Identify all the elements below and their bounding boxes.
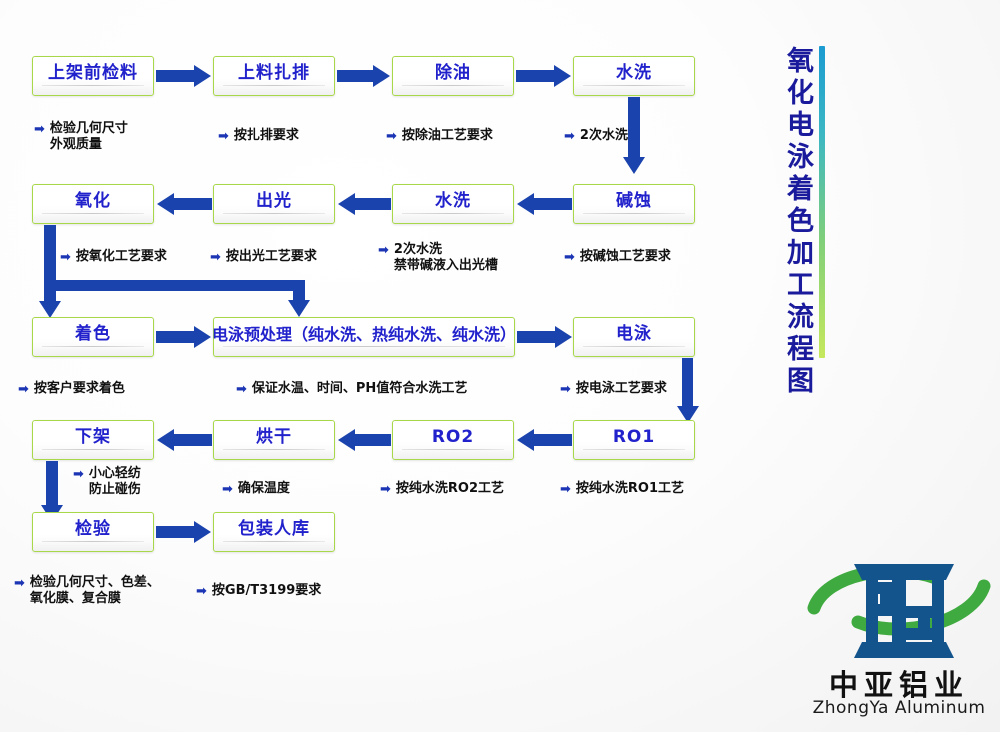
- node-underline: [223, 346, 505, 347]
- node-zhuose: 着色: [32, 317, 154, 357]
- connector-n8-branch-vertical: [44, 225, 56, 303]
- arrow-bullet-icon: ➡: [236, 382, 247, 398]
- node-underline: [223, 213, 325, 214]
- node-underline: [42, 85, 144, 86]
- page-title: 氧化电泳着色加工流程图: [784, 46, 811, 398]
- arrow-bullet-icon: ➡: [34, 122, 45, 138]
- node-label: 上架前检料: [48, 65, 138, 87]
- arrowhead-n4-n5: [623, 157, 645, 174]
- note-t9: ➡ 按客户要求着色: [18, 381, 125, 397]
- node-underline: [583, 213, 685, 214]
- arrowhead-n16-n17: [194, 521, 211, 543]
- node-label: 电泳: [616, 326, 652, 348]
- connector-n12-n13: [533, 434, 572, 446]
- arrow-bullet-icon: ➡: [560, 382, 571, 398]
- note-t13: ➡ 确保温度: [222, 481, 290, 497]
- note-text: 按GB/T3199要求: [212, 583, 321, 599]
- connector-branch-horizontal: [56, 280, 304, 291]
- arrowhead-n10-n11: [555, 326, 572, 348]
- node-shangjiaqianjianliao: 上架前检料: [32, 56, 154, 96]
- arrowhead-n7-n8: [157, 193, 174, 215]
- note-t8: ➡ 按碱蚀工艺要求: [564, 249, 671, 265]
- arrowhead-n2-n3: [373, 65, 390, 87]
- node-label: 除油: [435, 65, 471, 87]
- note-t12: ➡ 小心轻纺防止碰伤: [73, 466, 141, 499]
- title-accent-bar: [819, 46, 825, 358]
- node-honggan: 烘干: [213, 420, 335, 460]
- node-underline: [223, 85, 325, 86]
- node-underline: [583, 449, 685, 450]
- arrowhead-n8-n9: [39, 301, 61, 318]
- note-text: 按碱蚀工艺要求: [580, 249, 671, 265]
- node-chuyou: 除油: [392, 56, 514, 96]
- node-label: RO2: [432, 429, 474, 451]
- arrow-bullet-icon: ➡: [222, 482, 233, 498]
- arrow-bullet-icon: ➡: [564, 129, 575, 145]
- note-text: 小心轻纺防止碰伤: [89, 466, 141, 499]
- node-label: 上料扎排: [238, 65, 310, 87]
- node-label: 水洗: [435, 193, 471, 215]
- node-dianyong: 电泳: [573, 317, 695, 357]
- node-label: 着色: [75, 326, 111, 348]
- note-text: 保证水温、时间、PH值符合水洗工艺: [252, 381, 467, 397]
- chart-title: 氧化电泳着色加工流程图: [784, 46, 825, 398]
- arrowhead-branch-n10: [288, 300, 310, 317]
- note-t16: ➡ 检验几何尺寸、色差、氧化膜、复合膜: [14, 575, 160, 608]
- connector-n2-n3: [337, 70, 374, 82]
- node-underline: [42, 213, 144, 214]
- arrow-bullet-icon: ➡: [218, 129, 229, 145]
- arrowhead-n12-n13: [517, 429, 534, 451]
- connector-n11-n12: [682, 358, 693, 408]
- connector-n6-n7: [354, 198, 391, 210]
- note-text: 按纯水洗RO2工艺: [396, 481, 504, 497]
- arrow-bullet-icon: ➡: [380, 482, 391, 498]
- note-t1: ➡ 检验几何尺寸外观质量: [34, 121, 128, 154]
- connector-n14-n15: [173, 434, 212, 446]
- note-t11: ➡ 按电泳工艺要求: [560, 381, 667, 397]
- company-logo: 中亚铝业 ZhongYa Aluminum: [806, 556, 992, 724]
- note-t7: ➡ 2次水洗禁带碱液入出光槽: [378, 242, 498, 275]
- note-text: 2次水洗禁带碱液入出光槽: [394, 242, 498, 275]
- arrow-bullet-icon: ➡: [18, 382, 29, 398]
- note-t3: ➡ 按除油工艺要求: [386, 128, 493, 144]
- connector-n16-n17: [156, 526, 195, 538]
- arrowhead-n3-n4: [554, 65, 571, 87]
- arrowhead-n6-n7: [338, 193, 355, 215]
- arrow-bullet-icon: ➡: [210, 250, 221, 266]
- arrowhead-n9-n10: [194, 326, 211, 348]
- note-text: 按纯水洗RO1工艺: [576, 481, 684, 497]
- connector-branch-down-to-n10: [293, 280, 305, 302]
- node-label: 电泳预处理（纯水洗、热纯水洗、纯水洗）: [212, 327, 516, 348]
- note-text: 按氧化工艺要求: [76, 249, 167, 265]
- connector-n4-n5: [628, 97, 640, 159]
- arrow-bullet-icon: ➡: [60, 250, 71, 266]
- node-underline: [583, 85, 685, 86]
- connector-n13-n14: [354, 434, 391, 446]
- node-dianyongyuchuli: 电泳预处理（纯水洗、热纯水洗、纯水洗）: [213, 317, 515, 357]
- note-t5: ➡ 按氧化工艺要求: [60, 249, 167, 265]
- note-text: 确保温度: [238, 481, 290, 497]
- note-t10: ➡ 保证水温、时间、PH值符合水洗工艺: [236, 381, 467, 397]
- arrow-bullet-icon: ➡: [196, 584, 207, 600]
- arrowhead-n14-n15: [157, 429, 174, 451]
- arrowhead-n1-n2: [194, 65, 211, 87]
- flowchart-page: 上架前检料 上料扎排 除油 水洗 ➡ 检验几何尺寸外观质量 ➡ 按扎排要求 ➡ …: [0, 0, 1000, 732]
- arrow-bullet-icon: ➡: [73, 467, 84, 483]
- note-text: 检验几何尺寸外观质量: [50, 121, 128, 154]
- note-t6: ➡ 按出光工艺要求: [210, 249, 317, 265]
- node-baozhuangruku: 包装人库: [213, 512, 335, 552]
- note-text: 按除油工艺要求: [402, 128, 493, 144]
- note-text: 按扎排要求: [234, 128, 299, 144]
- arrow-bullet-icon: ➡: [378, 243, 389, 259]
- connector-n9-n10: [156, 331, 195, 343]
- node-underline: [583, 346, 685, 347]
- node-label: 检验: [75, 521, 111, 543]
- note-text: 按客户要求着色: [34, 381, 125, 397]
- connector-n10-n11: [517, 331, 556, 343]
- node-shuixi-2: 水洗: [392, 184, 514, 224]
- node-underline: [42, 346, 144, 347]
- node-label: 下架: [75, 429, 111, 451]
- node-label: 出光: [256, 193, 292, 215]
- note-t14: ➡ 按纯水洗RO2工艺: [380, 481, 504, 497]
- connector-n5-n6: [533, 198, 572, 210]
- connector-n3-n4: [516, 70, 555, 82]
- note-t17: ➡ 按GB/T3199要求: [196, 583, 321, 599]
- node-xiajia: 下架: [32, 420, 154, 460]
- node-underline: [223, 449, 325, 450]
- node-underline: [42, 541, 144, 542]
- node-label: 包装人库: [238, 521, 310, 543]
- node-ro1: RO1: [573, 420, 695, 460]
- note-t2: ➡ 按扎排要求: [218, 128, 299, 144]
- node-yanghua: 氧化: [32, 184, 154, 224]
- node-shangliaozhapai: 上料扎排: [213, 56, 335, 96]
- node-label: 氧化: [75, 193, 111, 215]
- node-underline: [402, 213, 504, 214]
- node-label: 碱蚀: [616, 193, 652, 215]
- node-shuixi-1: 水洗: [573, 56, 695, 96]
- note-text: 按出光工艺要求: [226, 249, 317, 265]
- connector-n15-n16: [46, 461, 58, 507]
- note-text: 2次水洗: [580, 128, 628, 144]
- connector-n1-n2: [156, 70, 195, 82]
- node-label: 烘干: [256, 429, 292, 451]
- logo-company-en: ZhongYa Aluminum: [806, 698, 992, 718]
- logo-mark-icon: [806, 556, 992, 666]
- arrowhead-n5-n6: [517, 193, 534, 215]
- node-underline: [42, 449, 144, 450]
- node-ro2: RO2: [392, 420, 514, 460]
- arrow-bullet-icon: ➡: [564, 250, 575, 266]
- arrow-bullet-icon: ➡: [14, 576, 25, 592]
- arrow-bullet-icon: ➡: [386, 129, 397, 145]
- note-t15: ➡ 按纯水洗RO1工艺: [560, 481, 684, 497]
- node-chuguang: 出光: [213, 184, 335, 224]
- note-text: 检验几何尺寸、色差、氧化膜、复合膜: [30, 575, 160, 608]
- node-label: 水洗: [616, 65, 652, 87]
- node-underline: [402, 85, 504, 86]
- node-label: RO1: [613, 429, 655, 451]
- note-t4: ➡ 2次水洗: [564, 128, 628, 144]
- node-jianyan: 检验: [32, 512, 154, 552]
- arrowhead-n13-n14: [338, 429, 355, 451]
- node-underline: [402, 449, 504, 450]
- arrow-bullet-icon: ➡: [560, 482, 571, 498]
- note-text: 按电泳工艺要求: [576, 381, 667, 397]
- node-underline: [223, 541, 325, 542]
- connector-n7-n8: [173, 198, 212, 210]
- node-jianshi: 碱蚀: [573, 184, 695, 224]
